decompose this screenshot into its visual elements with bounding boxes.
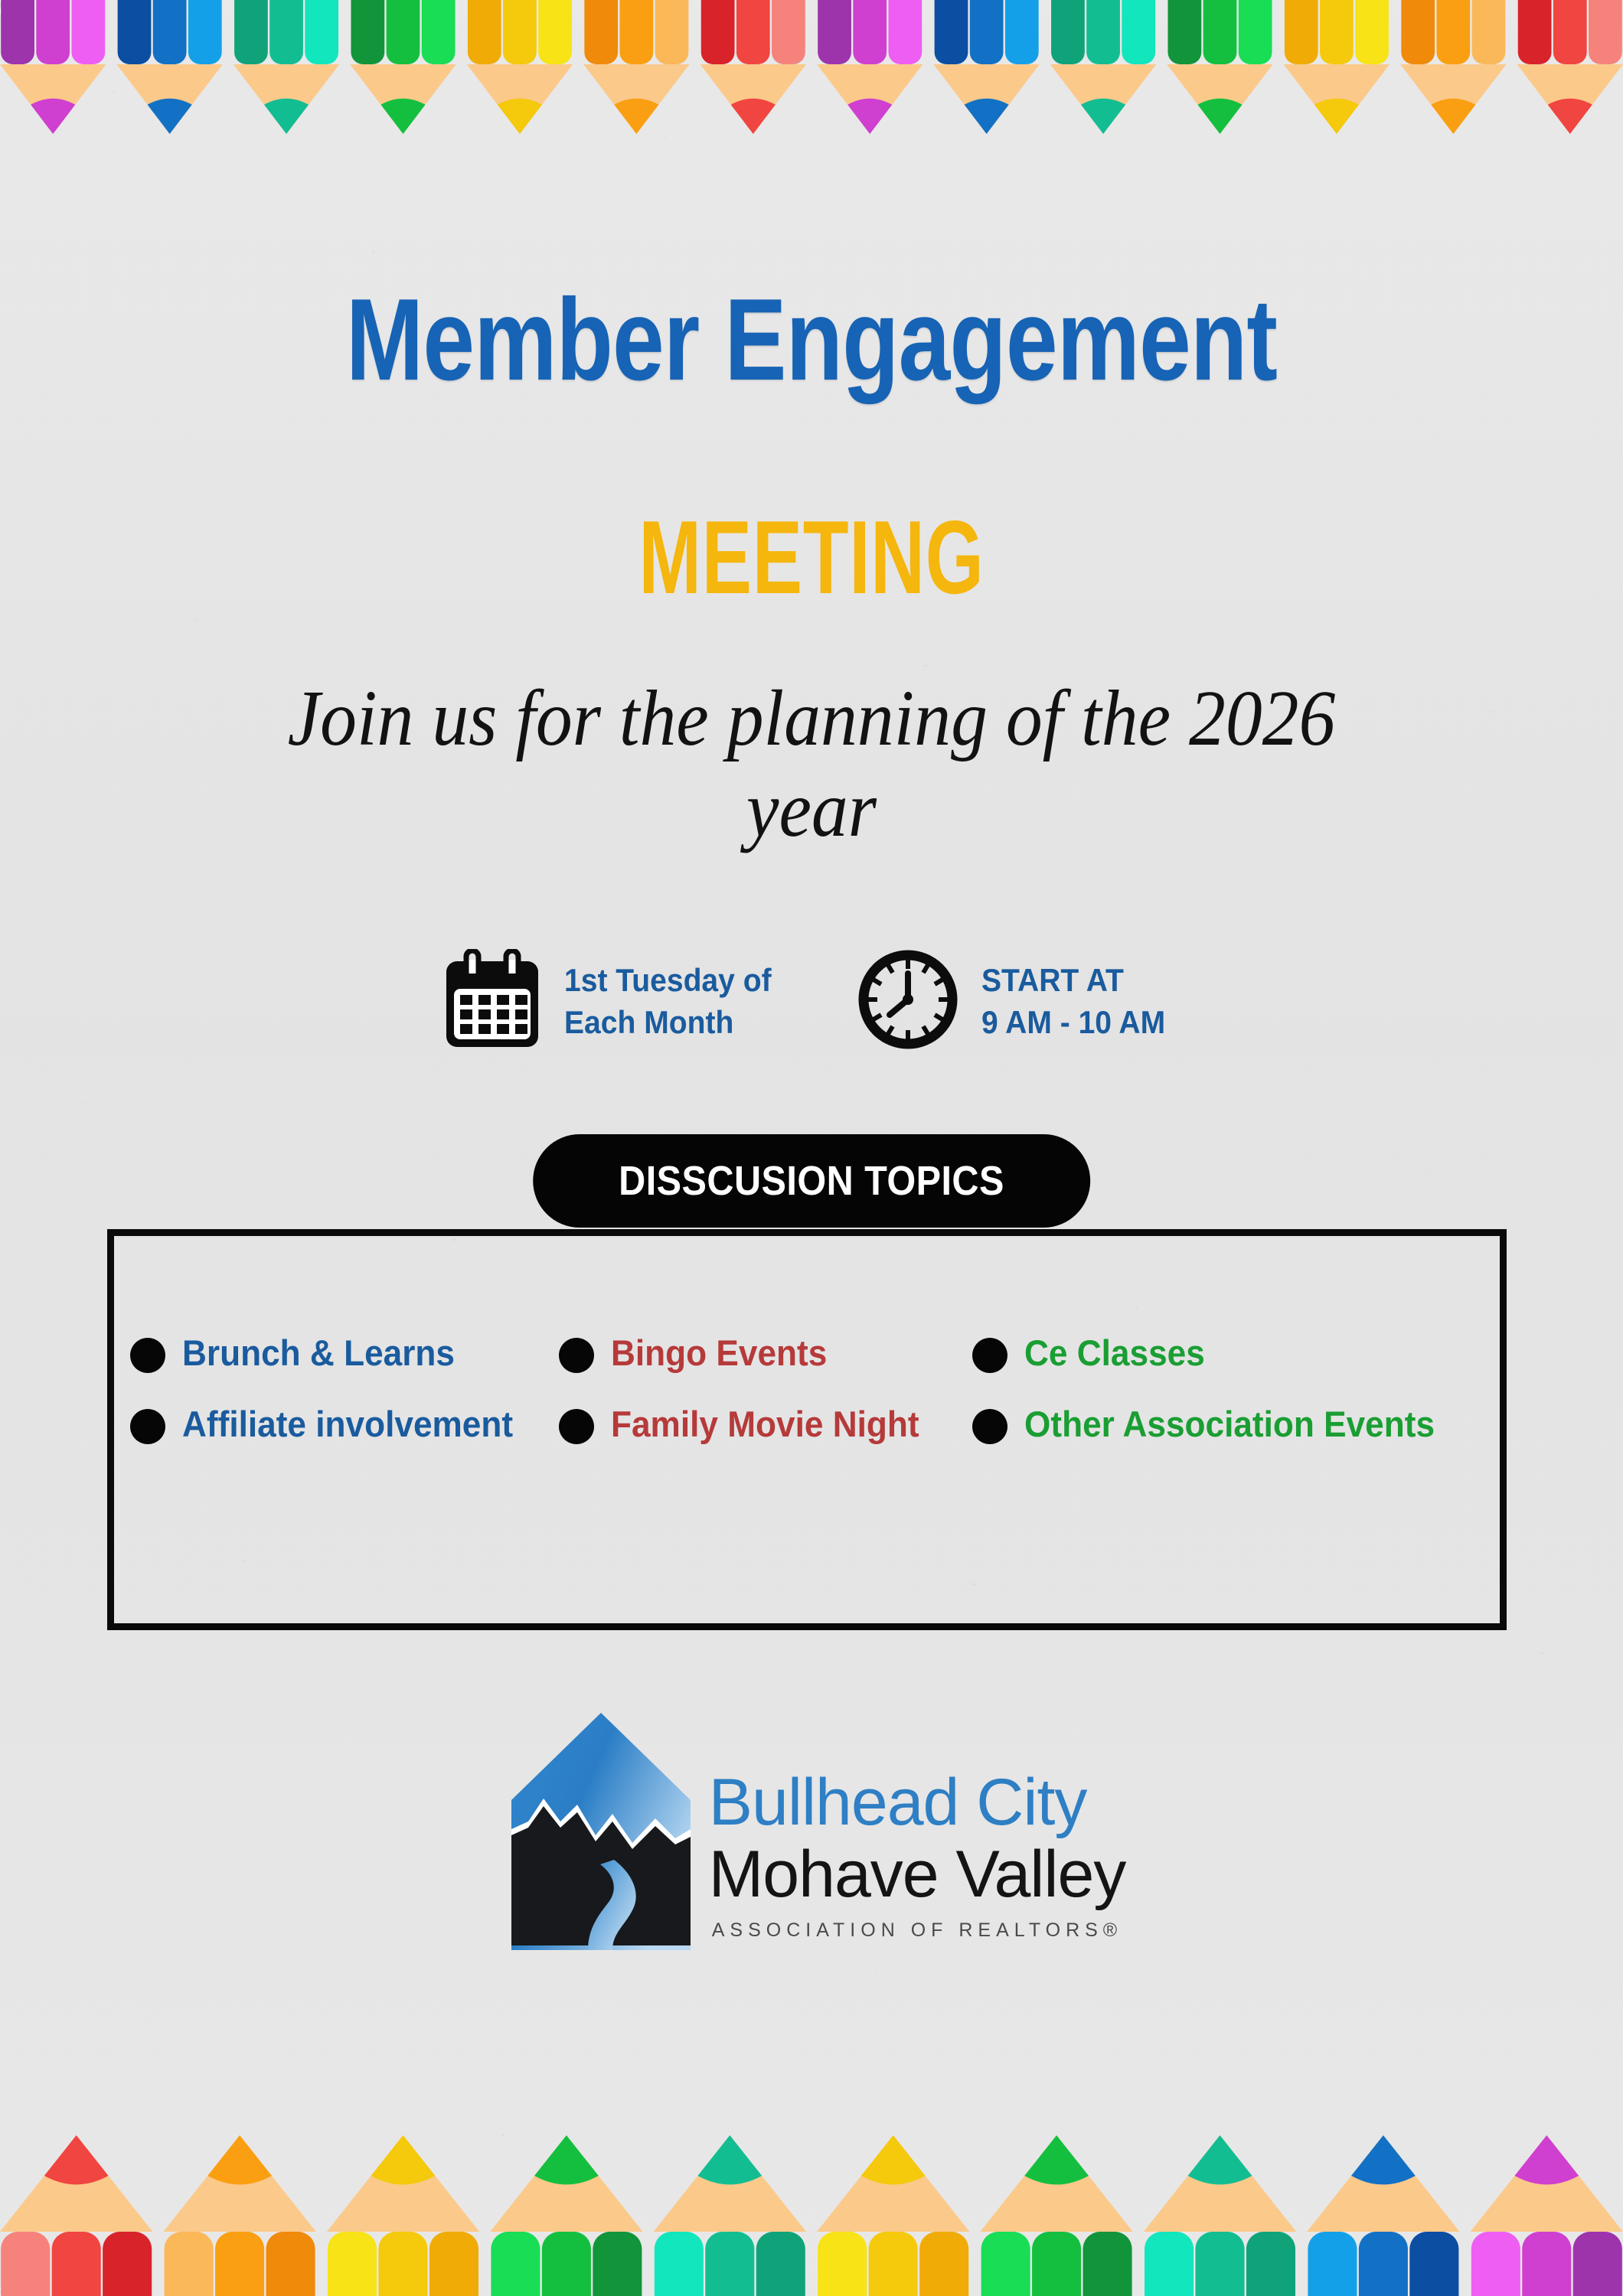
tagline: Join us for the planning of the 2026 yea… — [241, 673, 1382, 855]
topic-item: Affiliate involvement — [130, 1403, 559, 1445]
topic-label: Other Association Events — [1024, 1403, 1435, 1445]
bullet-dot-icon — [130, 1338, 165, 1373]
bullet-dot-icon — [130, 1409, 165, 1444]
pencil-border-top — [0, 0, 1623, 134]
calendar-icon — [443, 949, 541, 1054]
detail-schedule: 1st Tuesday of Each Month — [443, 949, 787, 1054]
bullet-dot-icon — [559, 1409, 594, 1444]
pencil-row-top-svg — [0, 0, 1623, 134]
discussion-topics-label: DISSCUSION TOPICS — [619, 1157, 1004, 1205]
time-text: START AT 9 AM - 10 AM — [981, 960, 1165, 1043]
poster-canvas: Member Engagement MEETING Join us for th… — [0, 0, 1623, 2296]
topic-label: Bingo Events — [611, 1332, 827, 1374]
bullet-dot-icon — [972, 1338, 1007, 1373]
pencil-row-bottom-svg — [0, 2135, 1623, 2296]
clock-icon — [857, 949, 958, 1054]
discussion-topics-badge: DISSCUSION TOPICS — [533, 1134, 1090, 1228]
pencil-border-bottom — [0, 2135, 1623, 2296]
organization-logo: Bullhead City Mohave Valley ASSOCIATION … — [0, 1707, 1623, 1963]
bullet-dot-icon — [972, 1409, 1007, 1444]
schedule-text: 1st Tuesday of Each Month — [564, 960, 772, 1043]
topic-item: Bingo Events — [559, 1332, 972, 1374]
bullet-dot-icon — [559, 1338, 594, 1373]
logo-line-bullhead-city: Bullhead City — [709, 1769, 1126, 1835]
logo-line-association: ASSOCIATION OF REALTORS® — [709, 1919, 1126, 1942]
topic-label: Brunch & Learns — [182, 1332, 455, 1374]
page-subtitle: MEETING — [227, 505, 1396, 609]
house-mountain-river-logo-icon — [498, 1707, 704, 1963]
meeting-details-row: 1st Tuesday of Each Month — [0, 949, 1623, 1054]
topic-label: Affiliate involvement — [182, 1403, 513, 1445]
page-title: Member Engagement — [162, 282, 1461, 398]
topic-item: Other Association Events — [972, 1403, 1501, 1445]
topic-item: Brunch & Learns — [130, 1332, 559, 1374]
logo-line-mohave-valley: Mohave Valley — [709, 1841, 1126, 1909]
topic-item: Family Movie Night — [559, 1403, 972, 1445]
topic-item: Ce Classes — [972, 1332, 1501, 1374]
detail-time: START AT 9 AM - 10 AM — [857, 949, 1179, 1054]
topic-label: Ce Classes — [1024, 1332, 1205, 1374]
topic-label: Family Movie Night — [611, 1403, 919, 1445]
topics-grid: Brunch & Learns Bingo Events Ce Classes … — [130, 1332, 1501, 1446]
